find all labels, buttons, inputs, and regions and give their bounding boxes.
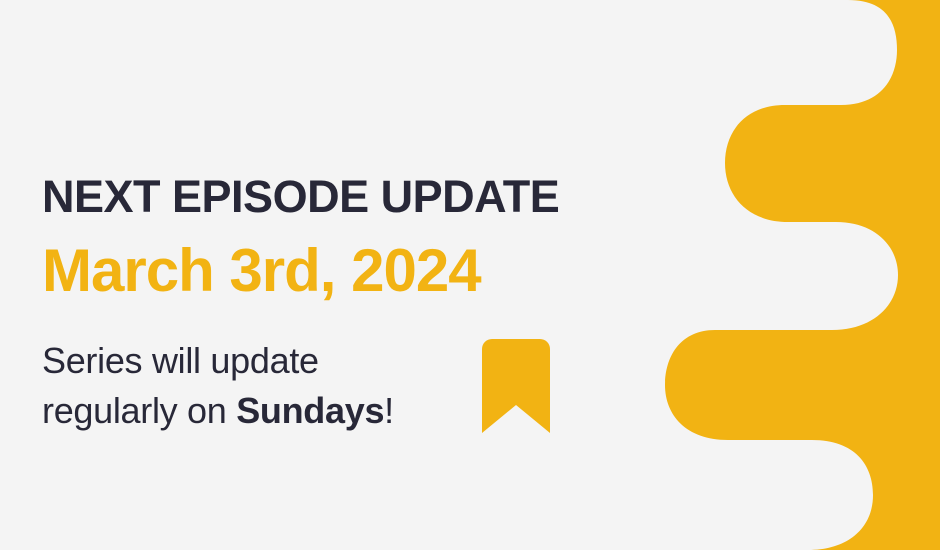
wave-decoration xyxy=(640,0,940,550)
episode-date: March 3rd, 2024 xyxy=(42,238,481,304)
schedule-day-emphasis: Sundays xyxy=(236,390,384,431)
banner-content: NEXT EPISODE UPDATE March 3rd, 2024 Seri… xyxy=(42,0,662,550)
schedule-line-1: Series will update xyxy=(42,340,319,381)
schedule-line-2-suffix: ! xyxy=(384,390,394,431)
update-schedule-text: Series will update regularly on Sundays! xyxy=(42,336,512,436)
schedule-line-2-prefix: regularly on xyxy=(42,390,236,431)
episode-update-banner: NEXT EPISODE UPDATE March 3rd, 2024 Seri… xyxy=(0,0,940,550)
page-title: NEXT EPISODE UPDATE xyxy=(42,172,559,222)
bookmark-icon xyxy=(482,339,550,433)
